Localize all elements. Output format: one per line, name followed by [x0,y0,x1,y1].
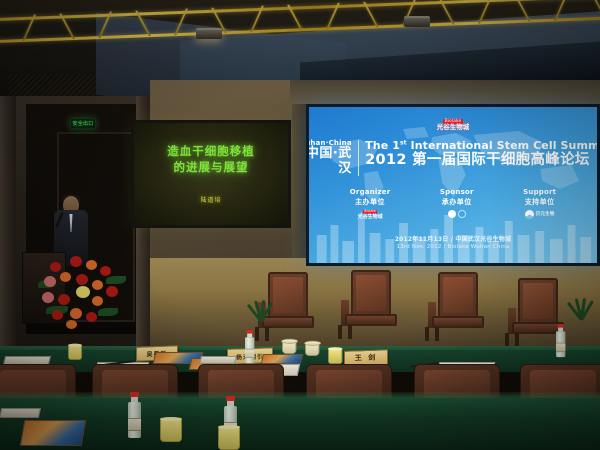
yellow-cup-front-2 [218,426,240,450]
summit-title-en-rest: International Stem Cell Summit [407,139,597,152]
led-screen: Biolake 光谷生物城 Wuhan·China 中国·武汉 The 1st … [306,104,600,266]
summit-title-en: The 1st International Stem Cell Summit [365,139,597,152]
sponsor-logos [448,210,466,218]
slide-title-line1: 造血干细胞移植 [167,144,255,160]
sponsor-logo-blue-icon [458,210,466,218]
conference-hall-photo: 安全出口 造血干细胞移植 的进展与展望 陆道培 [0,0,600,450]
organizer-logo: Biolake 光谷生物城 [358,210,383,220]
support-logo: 贝元生物 [525,210,555,219]
event-date-cn: 2012年11月13日 / 中国武汉光谷生物城 [309,234,597,243]
truss-light-2 [404,16,430,27]
column-sponsor: Sponsor 承办单位 [440,188,474,220]
summit-title-en-prefix: The 1 [365,139,400,152]
summit-title-row: Wuhan·China 中国·武汉 The 1st International … [309,139,597,177]
led-screen-surface: Biolake 光谷生物城 Wuhan·China 中国·武汉 The 1st … [309,107,597,263]
column-organizer: Organizer 主办单位 Biolake 光谷生物城 [350,188,391,220]
tea-cup-back-1 [282,340,296,354]
led-footer: 2012年11月13日 / 中国武汉光谷生物城 13rd Nov. 2012 /… [309,234,597,251]
organizer-label-en: Organizer [350,188,391,196]
summit-title-location: Wuhan·China 中国·武汉 [309,139,358,177]
projection-screen-surface: 造血干细胞移植 的进展与展望 陆道培 [134,123,288,225]
event-date-en: 13rd Nov. 2012 / Biolake Wuhan China [309,244,597,250]
summit-title-ordinal: st [400,139,407,146]
support-swirl-icon [525,210,534,219]
biolake-logo-cn: 光谷生物城 [437,124,470,131]
document-stack-2 [199,356,237,364]
organizer-logo-cn: 光谷生物城 [358,214,383,220]
sponsor-label-cn: 承办单位 [442,197,472,207]
led-content: Biolake 光谷生物城 Wuhan·China 中国·武汉 The 1st … [309,107,597,263]
support-logo-cn: 贝元生物 [536,211,555,217]
sponsor-label-en: Sponsor [440,188,474,196]
document-stack-front [0,408,41,418]
support-label-cn: 支持单位 [525,197,555,207]
column-support: Support 支持单位 贝元生物 [523,188,556,220]
flower-arrangement [36,250,128,328]
name-card-3-label: 王 剑 [355,353,377,364]
sponsor-logo-white-icon [448,210,456,218]
potted-plant-right [566,286,600,320]
yellow-cup-back-1 [328,348,342,364]
summit-title-cn: 2012 第一届国际干细胞高峰论坛 [365,152,597,169]
sponsor-columns: Organizer 主办单位 Biolake 光谷生物城 Sponsor 承办单… [309,188,597,220]
yellow-cup-front-1 [160,418,182,442]
yellow-cup-back-2 [68,344,82,360]
tea-cup-back-2 [305,342,319,356]
truss-light-1 [196,28,222,39]
exit-sign-label: 安全出口 [72,120,93,127]
exit-sign: 安全出口 [70,118,96,129]
potted-plant-left [246,288,280,322]
slide-title-line2: 的进展与展望 [174,160,249,176]
slide-author: 陆道培 [200,195,221,204]
projection-screen: 造血干细胞移植 的进展与展望 陆道培 [131,120,291,228]
biolake-logo-main: Biolake 光谷生物城 [427,118,479,132]
location-cn: 中国·武汉 [309,147,352,177]
front-table [0,398,600,450]
wall-pillar-left [0,96,16,346]
support-label-en: Support [523,188,556,196]
conference-booklet-3 [261,354,303,364]
conference-booklet-front [20,420,87,446]
summit-title-main: The 1st International Stem Cell Summit 2… [359,139,597,169]
organizer-label-cn: 主办单位 [355,197,385,207]
